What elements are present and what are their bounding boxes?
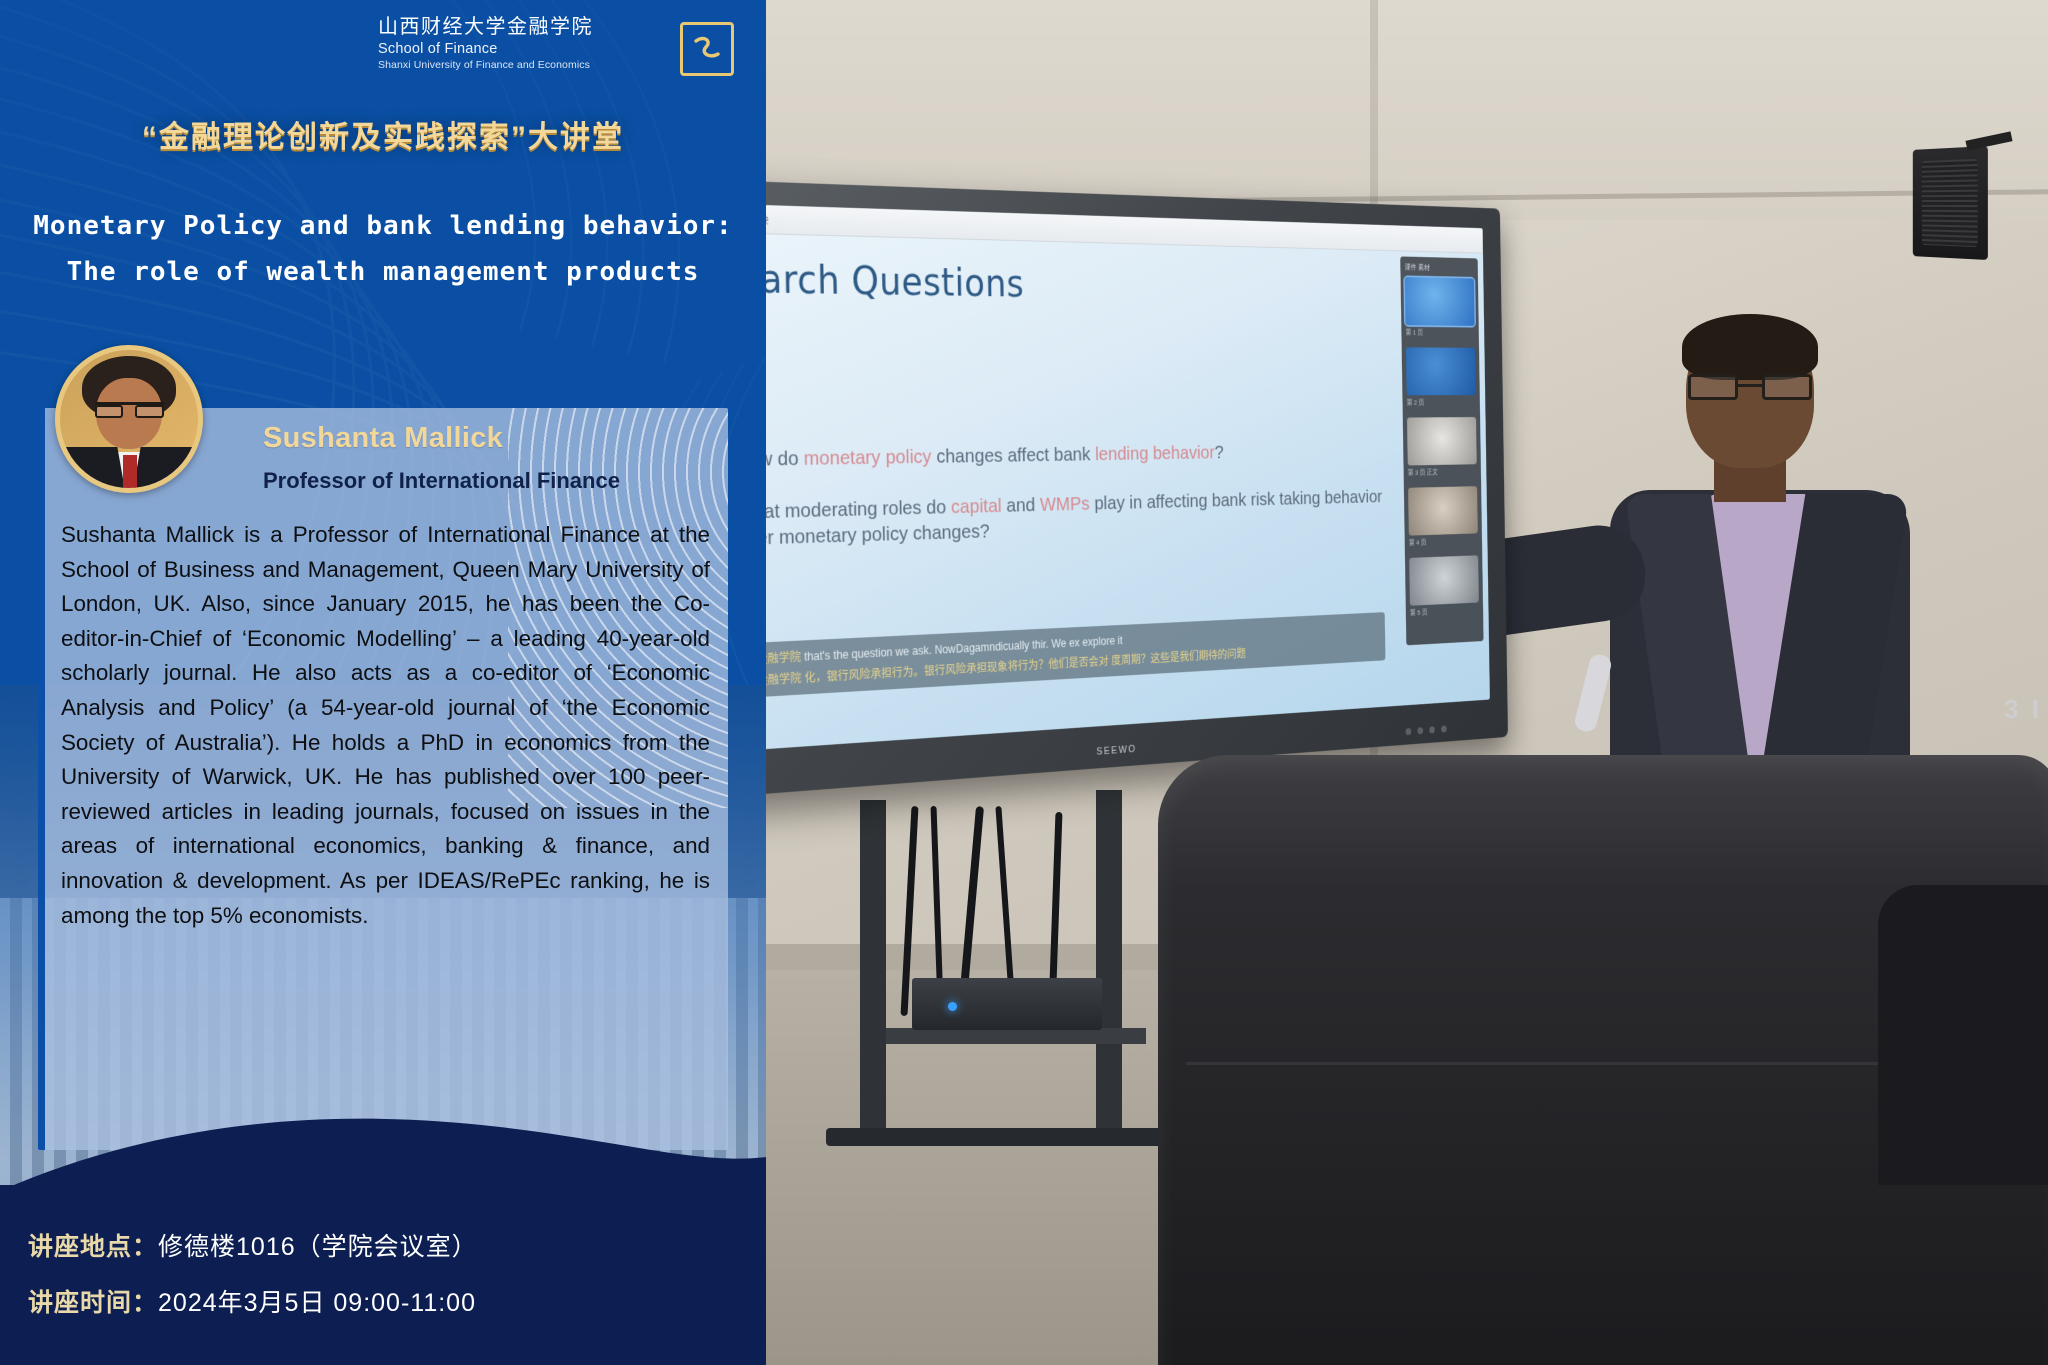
- poster-photo-composite: 山西财经大学金融学院 School of Finance Shanxi Univ…: [0, 0, 2048, 1365]
- thumbnail-image: [1409, 555, 1479, 605]
- presentation-slide[interactable]: 批注 希沃白板5 放映 Research Questions: [766, 201, 1490, 758]
- display-stand-left-column: [860, 800, 886, 1140]
- toolbar-item-2-label: 放映: [766, 211, 769, 226]
- display-stand-right-column: [1096, 790, 1122, 1140]
- speaker-avatar: [55, 345, 203, 493]
- time-value: 2024年3月5日 09:00-11:00: [158, 1289, 476, 1317]
- thumbnail-image: [1407, 417, 1477, 465]
- bullet-text-2: What moderating roles do capital and WMP…: [766, 485, 1383, 553]
- lecture-title: Monetary Policy and bank lending behavio…: [22, 204, 744, 295]
- slide-thumbnail-2[interactable]: 第 2 页: [1406, 347, 1476, 407]
- stand-base: [826, 1128, 1166, 1146]
- stand-shelf: [886, 1028, 1146, 1044]
- thumbnail-label: 第 4 页: [1409, 536, 1478, 548]
- poster-footer: 讲座地点：修德楼1016（学院会议室） 讲座时间：2024年3月5日 09:00…: [0, 1185, 766, 1365]
- venue-label: 讲座地点：: [28, 1233, 158, 1261]
- panel-button[interactable]: [1441, 725, 1447, 732]
- sidebar-header: 课件 素材: [1405, 262, 1474, 274]
- live-caption-box: 金融学院 that's the question we ask. NowDaga…: [766, 612, 1385, 698]
- slide-bullet-list: How do monetary policy changes affect ba…: [766, 438, 1384, 579]
- lecture-title-line-1: Monetary Policy and bank lending behavio…: [22, 204, 744, 250]
- lecture-title-line-2: The role of wealth management products: [22, 250, 744, 296]
- venue-row: 讲座地点：修德楼1016（学院会议室）: [28, 1227, 478, 1263]
- thumbnail-image: [1408, 486, 1478, 535]
- speaker-info-card: Sushanta Mallick Professor of Internatio…: [38, 408, 728, 1150]
- panel-button[interactable]: [1429, 726, 1435, 733]
- thumbnail-label: 第 3 页 正文: [1408, 467, 1477, 478]
- panel-button[interactable]: [1417, 727, 1423, 734]
- wall-speaker-box: [1913, 146, 1988, 260]
- slide-bullet-item: How do monetary policy changes affect ba…: [766, 438, 1382, 474]
- thumbnail-label: 第 1 页: [1406, 328, 1475, 338]
- panel-screen[interactable]: 批注 希沃白板5 放映 Research Questions: [766, 201, 1490, 758]
- slide-title: Research Questions: [766, 255, 1024, 306]
- slide-bullet-item: What moderating roles do capital and WMP…: [766, 485, 1383, 554]
- media-player-box: [912, 978, 1102, 1030]
- speaker-biography: Sushanta Mallick is a Professor of Inter…: [61, 518, 710, 933]
- thumbnail-image: [1405, 277, 1475, 326]
- school-emblem-icon: [680, 22, 734, 76]
- slide-thumbnail-1[interactable]: 第 1 页: [1405, 277, 1475, 338]
- eyeglasses-icon: [1688, 374, 1812, 400]
- panel-button[interactable]: [1406, 728, 1412, 735]
- lecture-room-photo: 批注 希沃白板5 放映 Research Questions: [766, 0, 2048, 1365]
- bullet-text-1: How do monetary policy changes affect ba…: [766, 440, 1224, 473]
- thumbnail-label: 第 2 页: [1407, 398, 1476, 408]
- lecture-poster-panel: 山西财经大学金融学院 School of Finance Shanxi Univ…: [0, 0, 766, 1365]
- school-logo-block: 山西财经大学金融学院 School of Finance Shanxi Univ…: [378, 16, 738, 96]
- chair-right-side: [1878, 885, 2048, 1185]
- navy-wave-divider: [0, 1113, 766, 1203]
- slide-thumbnail-5[interactable]: 第 5 页: [1409, 555, 1479, 617]
- upper-wall: [766, 0, 2048, 220]
- thumbnail-image: [1406, 347, 1476, 395]
- slide-thumbnail-4[interactable]: 第 4 页: [1408, 486, 1478, 547]
- chair-badge-text: 3 I: [2004, 694, 2042, 725]
- lecture-series-title: “金融理论创新及实践探索”大讲堂: [0, 112, 766, 156]
- venue-value: 修德楼1016（学院会议室）: [158, 1233, 478, 1261]
- slide-thumbnail-sidebar[interactable]: 课件 素材 第 1 页 第 2 页 第 3 页 正文: [1400, 256, 1483, 645]
- microphone: [1573, 652, 1613, 733]
- thumbnail-label: 第 5 页: [1410, 605, 1479, 618]
- power-led-indicator: [948, 1002, 957, 1011]
- time-label: 讲座时间：: [28, 1289, 158, 1317]
- speaker-name: Sushanta Mallick: [263, 422, 503, 455]
- slide-thumbnail-3[interactable]: 第 3 页 正文: [1407, 417, 1477, 477]
- interactive-flat-panel[interactable]: 批注 希沃白板5 放映 Research Questions: [766, 176, 1508, 806]
- toolbar-item-2[interactable]: 放映: [766, 211, 769, 226]
- speaker-role: Professor of International Finance: [263, 468, 620, 494]
- time-row: 讲座时间：2024年3月5日 09:00-11:00: [28, 1283, 476, 1319]
